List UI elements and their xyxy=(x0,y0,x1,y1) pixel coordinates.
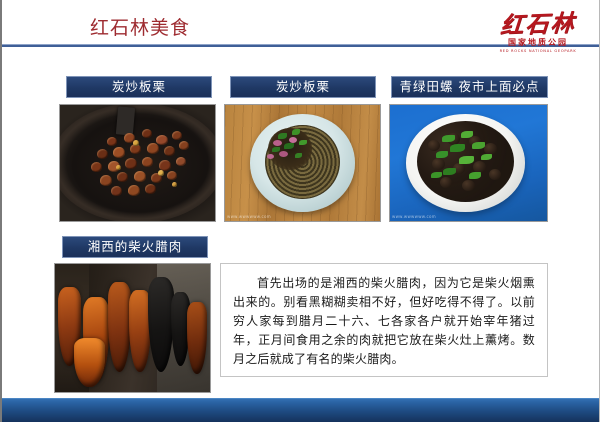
cured-meat-scene xyxy=(55,264,210,392)
description-text: 首先出场的是湘西的柴火腊肉，因为它是柴火烟熏出来的。别看黑糊糊卖相不好，但好吃得… xyxy=(221,264,547,377)
description-textbox: 首先出场的是湘西的柴火腊肉，因为它是柴火烟熏出来的。别看黑糊糊卖相不好，但好吃得… xyxy=(220,263,548,377)
logo-subtitle-cn: 国家地质公园 xyxy=(485,38,591,48)
photo-stir-fried-snails: www.wwwwww.com xyxy=(389,104,548,222)
geopark-logo: 红石林 国家地质公园 RED ROCKS NATIONAL GEOPARK xyxy=(485,12,591,62)
spatula-icon xyxy=(116,107,135,136)
caption-bar-1: 炭炒板栗 xyxy=(66,76,212,98)
chestnut-wok-scene xyxy=(60,105,215,221)
caption-bar-2: 炭炒板栗 xyxy=(230,76,376,98)
noodle-bowl-scene: www.wwwwww.com xyxy=(225,105,380,221)
logo-subtitle-en: RED ROCKS NATIONAL GEOPARK xyxy=(485,48,591,53)
logo-calligraphy-mark: 红石林 xyxy=(484,10,592,40)
photo-roasted-chestnuts xyxy=(59,104,216,222)
photo-watermark: www.wwwwww.com xyxy=(227,214,271,220)
presentation-slide: 红石林美食 红石林 国家地质公园 RED ROCKS NATIONAL GEOP… xyxy=(0,0,600,422)
photo-noodle-bowl: www.wwwwww.com xyxy=(224,104,381,222)
photo-watermark: www.wwwwww.com xyxy=(392,214,436,220)
wok-rim xyxy=(59,104,216,222)
page-title: 红石林美食 xyxy=(90,16,190,40)
photo-smoked-cured-meat xyxy=(54,263,211,393)
footer-band xyxy=(2,398,600,422)
caption-bar-4: 湘西的柴火腊肉 xyxy=(62,236,208,258)
footer-top-edge xyxy=(2,398,600,399)
snail-dish-scene: www.wwwwww.com xyxy=(390,105,547,221)
caption-bar-3: 青绿田螺 夜市上面必点 xyxy=(391,76,548,98)
